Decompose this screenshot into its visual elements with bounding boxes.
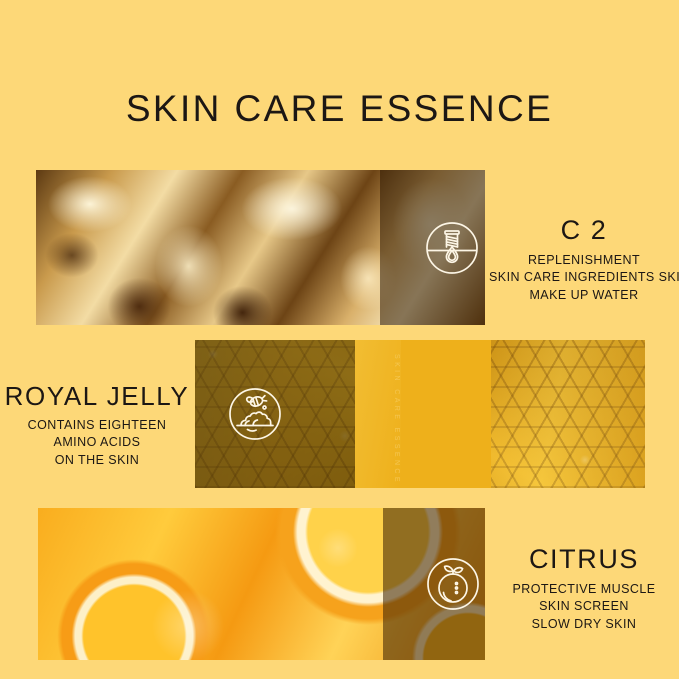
section-line: SKIN CARE INGREDIENTS SKIN bbox=[489, 269, 679, 287]
section-line: SKIN SCREEN bbox=[489, 598, 679, 616]
section-heading-royal-jelly: ROYAL JELLY bbox=[2, 382, 192, 411]
poster-canvas: SKIN CARE ESSENCE C 2 REPLENISHMENT SKIN… bbox=[0, 0, 679, 679]
image-panel-citrus bbox=[38, 508, 485, 660]
section-line: ON THE SKIN bbox=[2, 452, 192, 470]
section-line: PROTECTIVE MUSCLE bbox=[489, 581, 679, 599]
section-line: AMINO ACIDS bbox=[2, 434, 192, 452]
section-line: REPLENISHMENT bbox=[489, 252, 679, 270]
center-color-block: SKIN CARE ESSENCE bbox=[355, 340, 491, 488]
dropper-icon bbox=[420, 216, 484, 280]
page-title: SKIN CARE ESSENCE bbox=[0, 88, 679, 130]
section-heading-citrus: CITRUS bbox=[489, 545, 679, 575]
section-line: MAKE UP WATER bbox=[489, 287, 679, 305]
image-panel-honeycomb: SKIN CARE ESSENCE bbox=[195, 340, 645, 488]
image-panel-gold-liquid bbox=[36, 170, 485, 325]
section-heading-c2: C 2 bbox=[489, 216, 679, 246]
orange-fruit-icon bbox=[421, 552, 485, 616]
info-block-c2: C 2 REPLENISHMENT SKIN CARE INGREDIENTS … bbox=[489, 216, 679, 305]
info-block-citrus: CITRUS PROTECTIVE MUSCLE SKIN SCREEN SLO… bbox=[489, 545, 679, 634]
info-block-royal-jelly: ROYAL JELLY CONTAINS EIGHTEEN AMINO ACID… bbox=[2, 382, 192, 470]
section-line: SLOW DRY SKIN bbox=[489, 616, 679, 634]
bee-flower-icon bbox=[223, 382, 287, 446]
section-line: CONTAINS EIGHTEEN bbox=[2, 417, 192, 435]
vertical-caption: SKIN CARE ESSENCE bbox=[393, 354, 400, 474]
